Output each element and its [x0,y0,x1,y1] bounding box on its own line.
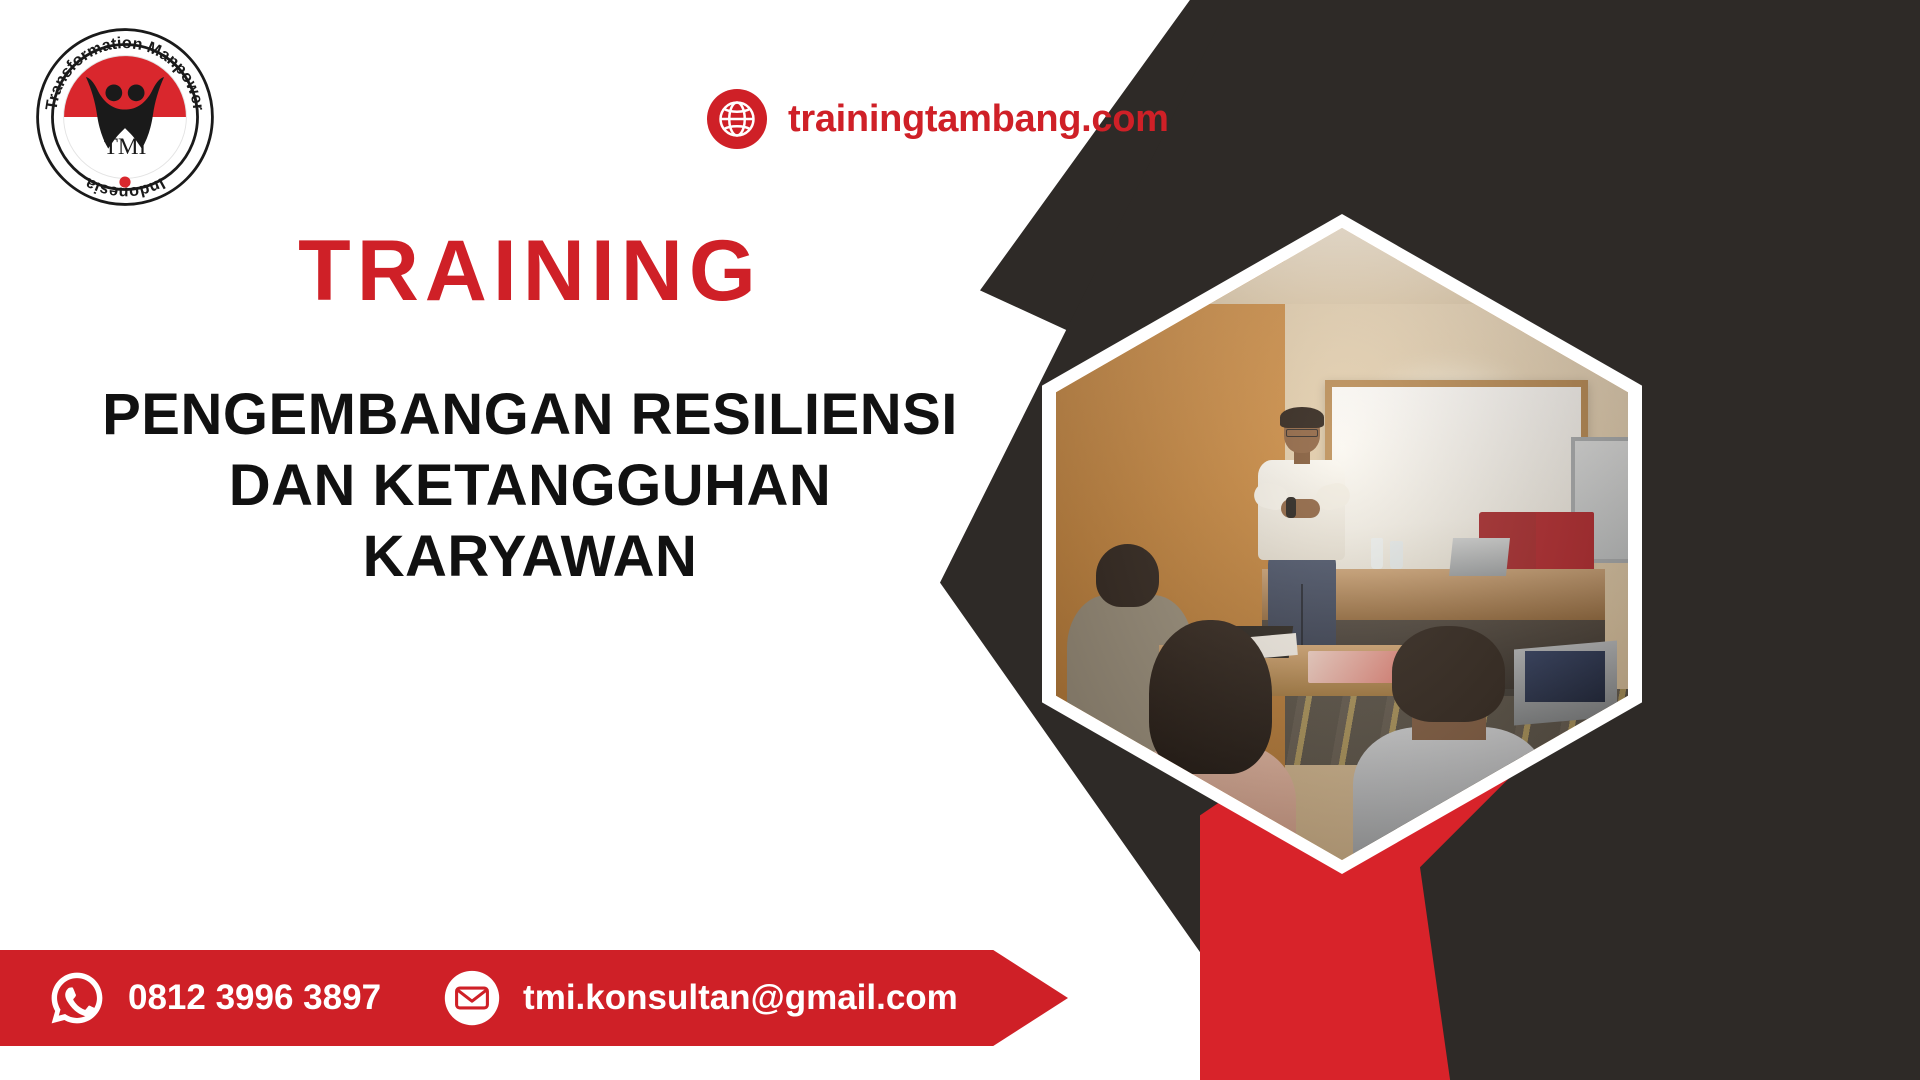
website-row[interactable]: trainingtambang.com [706,88,1169,150]
contact-whatsapp[interactable]: 0812 3996 3897 [48,969,381,1027]
email-address[interactable]: tmi.konsultan@gmail.com [523,978,958,1018]
title-line-2: DAN KETANGGUHAN [10,451,1050,522]
page-title: PENGEMBANGAN RESILIENSI DAN KETANGGUHAN … [10,380,1050,592]
content-area: TMI Transformation Manpower Indonesia [0,0,1060,1080]
tmi-logo: TMI Transformation Manpower Indonesia [32,24,218,210]
poster-canvas: TMI Transformation Manpower Indonesia [0,0,1920,1080]
email-icon [443,969,501,1027]
globe-icon [706,88,768,150]
title-line-3: KARYAWAN [10,522,1050,593]
whatsapp-icon [48,969,106,1027]
whatsapp-number[interactable]: 0812 3996 3897 [128,978,381,1018]
eyebrow-heading: TRAINING [0,228,1060,314]
website-url[interactable]: trainingtambang.com [788,98,1169,141]
title-line-1: PENGEMBANGAN RESILIENSI [10,380,1050,451]
contact-footer-bar: 0812 3996 3897 tmi.konsultan@gmail.com [0,950,1068,1046]
svg-text:TMI: TMI [104,134,147,160]
contact-email[interactable]: tmi.konsultan@gmail.com [443,969,958,1027]
